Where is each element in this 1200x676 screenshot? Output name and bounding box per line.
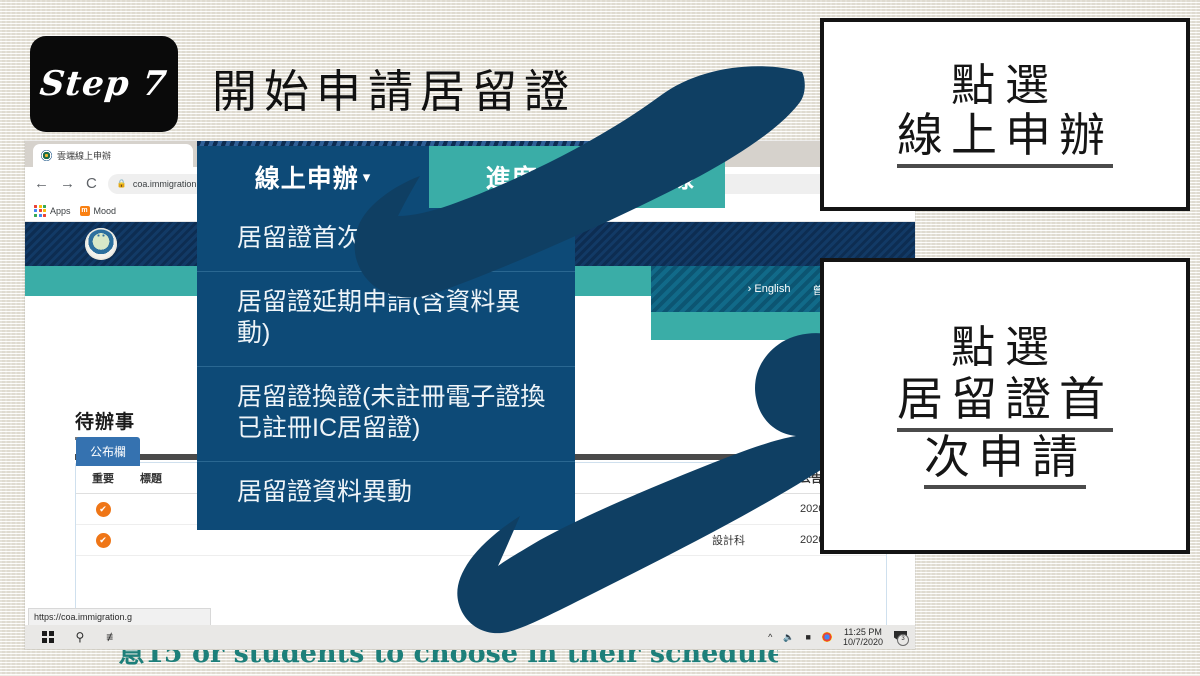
battery-icon[interactable]: ■: [806, 632, 811, 642]
bookmark-apps[interactable]: Apps: [34, 205, 71, 217]
speaker-icon[interactable]: 🔈: [783, 632, 794, 643]
nav-item-label: 進度查詢: [486, 159, 590, 195]
row-unit: 設計科: [702, 525, 790, 555]
notification-center-icon[interactable]: 3: [894, 631, 907, 643]
callout-click-first-application: 點選 居留證首 次申請: [820, 258, 1190, 554]
national-immigration-agency-emblem-icon: [85, 228, 117, 260]
nav-item-progress-inquiry[interactable]: 進度查詢 ▾: [429, 146, 659, 208]
moodle-icon: m: [80, 206, 90, 216]
check-icon: ✔: [96, 533, 111, 548]
page-section-heading: 待辦事: [75, 407, 135, 440]
bookmark-moodle-label: Mood: [94, 206, 117, 216]
row-important-badge: ✔: [76, 495, 130, 524]
menu-item-first-application[interactable]: 居留證首次申請: [197, 208, 575, 272]
bookmark-moodle[interactable]: m Mood: [80, 206, 117, 216]
nav-item-online-application[interactable]: 線上申辦 ▾: [197, 146, 429, 208]
search-icon[interactable]: ⚲: [76, 630, 85, 644]
table-header-important: 重要: [76, 463, 130, 493]
tab-favicon-icon: [41, 150, 52, 161]
chevron-down-icon: ▾: [594, 168, 603, 186]
browser-tab[interactable]: 雲端線上申辦: [33, 144, 193, 167]
browser-status-bar: https://coa.immigration.g: [28, 608, 211, 625]
language-link[interactable]: › English: [748, 283, 791, 295]
lock-icon: 🔒: [117, 179, 127, 188]
site-navigation-overlay: 線上申辦 ▾ 進度查詢 ▾ 線 居留證首次申請 居留證延期申請(含資料異動) 居…: [197, 141, 575, 649]
row-important-badge: ✔: [76, 526, 130, 555]
bottom-caption: 意15 or students to choose in their sched…: [118, 650, 778, 676]
reload-button[interactable]: C: [86, 176, 97, 191]
forward-button[interactable]: →: [60, 176, 75, 191]
apps-grid-icon: [34, 205, 46, 217]
nav-item-label: 線: [669, 159, 695, 195]
step-badge-label: Step 7: [38, 64, 169, 104]
check-icon: ✔: [96, 502, 111, 517]
dropdown-menu: 居留證首次申請 居留證延期申請(含資料異動) 居留證換證(未註冊電子證換已註冊I…: [197, 208, 575, 530]
step-badge: Step 7: [30, 36, 178, 132]
callout-line: 線上申辦: [897, 110, 1113, 168]
browser-tab-title: 雲端線上申辦: [57, 149, 111, 162]
notification-count: 3: [897, 634, 909, 646]
taskbar-clock[interactable]: 11:25 PM 10/7/2020: [843, 627, 883, 648]
callout-line: 點選: [951, 323, 1059, 372]
windows-start-icon[interactable]: [42, 631, 54, 643]
slide-background: Step 7 開始申請居留證 雲端線上申辦 ← → C 🔒 coa.immigr…: [0, 0, 1200, 675]
callout-line: 點選: [951, 61, 1059, 110]
slide-title: 開始申請居留證: [212, 55, 576, 120]
clock-time: 11:25 PM: [844, 627, 882, 637]
menu-item-data-change[interactable]: 居留證資料異動: [197, 462, 575, 525]
card-tab-strip: 公布欄: [76, 437, 140, 466]
clock-date: 10/7/2020: [843, 637, 883, 647]
chevron-down-icon: ▾: [363, 168, 372, 186]
callout-click-online-application: 點選 線上申辦: [820, 18, 1190, 211]
bookmark-apps-label: Apps: [50, 206, 71, 216]
callout-line: 次申請: [924, 432, 1086, 490]
nav-item-third[interactable]: 線: [659, 146, 725, 208]
task-view-icon[interactable]: ≢: [106, 630, 118, 644]
chrome-icon[interactable]: [822, 632, 832, 642]
callout-line: 居留證首: [897, 374, 1113, 432]
back-button[interactable]: ←: [34, 176, 49, 191]
menu-item-extension-application[interactable]: 居留證延期申請(含資料異動): [197, 272, 575, 367]
chevron-up-icon[interactable]: ^: [768, 632, 772, 642]
row-unit: 設計科: [702, 494, 790, 524]
nav-item-label: 線上申辦: [255, 159, 359, 195]
tab-bulletin[interactable]: 公布欄: [76, 437, 140, 466]
menu-item-card-replacement[interactable]: 居留證換證(未註冊電子證換已註冊IC居留證): [197, 367, 575, 462]
table-header-unit: 單位: [702, 463, 790, 493]
